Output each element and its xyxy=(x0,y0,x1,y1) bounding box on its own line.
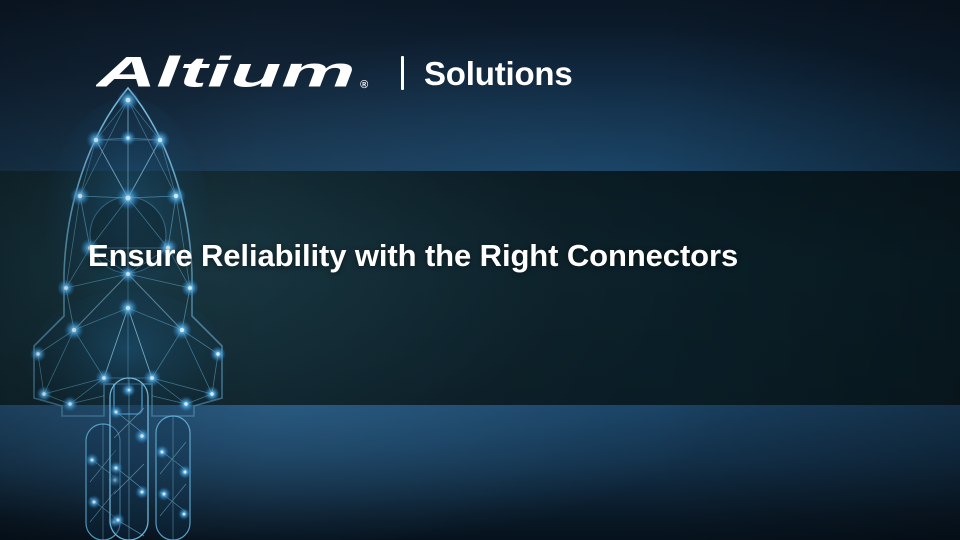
svg-text:®: ® xyxy=(360,79,368,91)
altium-logo: Altium ® xyxy=(96,51,379,95)
logo-divider xyxy=(401,56,404,90)
svg-text:Altium: Altium xyxy=(96,51,355,95)
background-band-bottom xyxy=(0,405,960,540)
page-title: Ensure Reliability with the Right Connec… xyxy=(88,238,918,275)
slide-canvas: Altium ® Solutions Ensure Reliability wi… xyxy=(0,0,960,540)
product-label: Solutions xyxy=(424,57,573,90)
background-band-middle xyxy=(0,171,960,405)
brand-lockup: Altium ® Solutions xyxy=(96,47,573,99)
